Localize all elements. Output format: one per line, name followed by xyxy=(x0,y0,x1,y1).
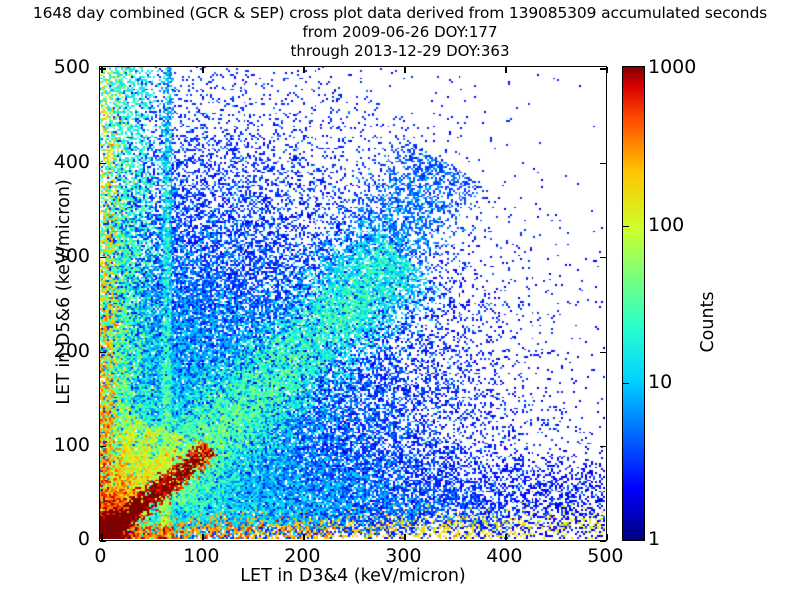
x-tick xyxy=(606,534,607,540)
x-tick xyxy=(303,534,304,540)
colorbar xyxy=(622,66,645,541)
x-tick-label: 200 xyxy=(284,545,320,567)
x-tick xyxy=(202,534,203,540)
colorbar-tick-label: 100 xyxy=(648,214,684,236)
x-tick-label: 100 xyxy=(183,545,219,567)
x-tick-top xyxy=(404,67,405,73)
y-tick xyxy=(100,163,106,164)
colorbar-gradient xyxy=(623,67,644,540)
colorbar-tick-label: 10 xyxy=(648,371,672,393)
y-tick-right xyxy=(600,257,606,258)
figure-canvas: 1648 day combined (GCR & SEP) cross plot… xyxy=(0,0,800,600)
y-tick-label: 100 xyxy=(30,434,90,456)
title-line-1: 1648 day combined (GCR & SEP) cross plot… xyxy=(0,4,800,23)
x-tick-label: 400 xyxy=(486,545,522,567)
x-tick-top xyxy=(202,67,203,73)
x-tick-label: 0 xyxy=(94,545,106,567)
x-tick-top xyxy=(505,67,506,73)
colorbar-label: Counts xyxy=(698,242,718,402)
y-axis-label: LET in D5&6 (keV/micron) xyxy=(54,162,74,422)
colorbar-tick xyxy=(623,226,629,227)
plot-area xyxy=(99,66,607,541)
colorbar-tick xyxy=(623,383,629,384)
y-tick xyxy=(100,257,106,258)
y-tick-label: 0 xyxy=(30,528,90,550)
y-tick-right xyxy=(600,446,606,447)
y-tick xyxy=(100,68,106,69)
density-heatmap xyxy=(100,67,605,539)
y-tick-right xyxy=(600,540,606,541)
colorbar-tick-label: 1000 xyxy=(648,56,696,78)
x-tick-top xyxy=(606,67,607,73)
x-tick-top xyxy=(303,67,304,73)
x-tick-label: 300 xyxy=(385,545,421,567)
y-tick xyxy=(100,446,106,447)
x-tick-label: 500 xyxy=(587,545,623,567)
x-tick xyxy=(404,534,405,540)
figure-title: 1648 day combined (GCR & SEP) cross plot… xyxy=(0,4,800,61)
y-tick xyxy=(100,540,106,541)
y-tick xyxy=(100,352,106,353)
y-tick-right xyxy=(600,68,606,69)
y-tick-right xyxy=(600,352,606,353)
x-axis-label: LET in D3&4 (keV/micron) xyxy=(99,566,607,586)
x-tick xyxy=(101,534,102,540)
y-tick-label: 500 xyxy=(30,56,90,78)
title-line-2: from 2009-06-26 DOY:177 xyxy=(0,23,800,42)
colorbar-tick-label: 1 xyxy=(648,528,660,550)
y-tick-right xyxy=(600,163,606,164)
x-tick xyxy=(505,534,506,540)
